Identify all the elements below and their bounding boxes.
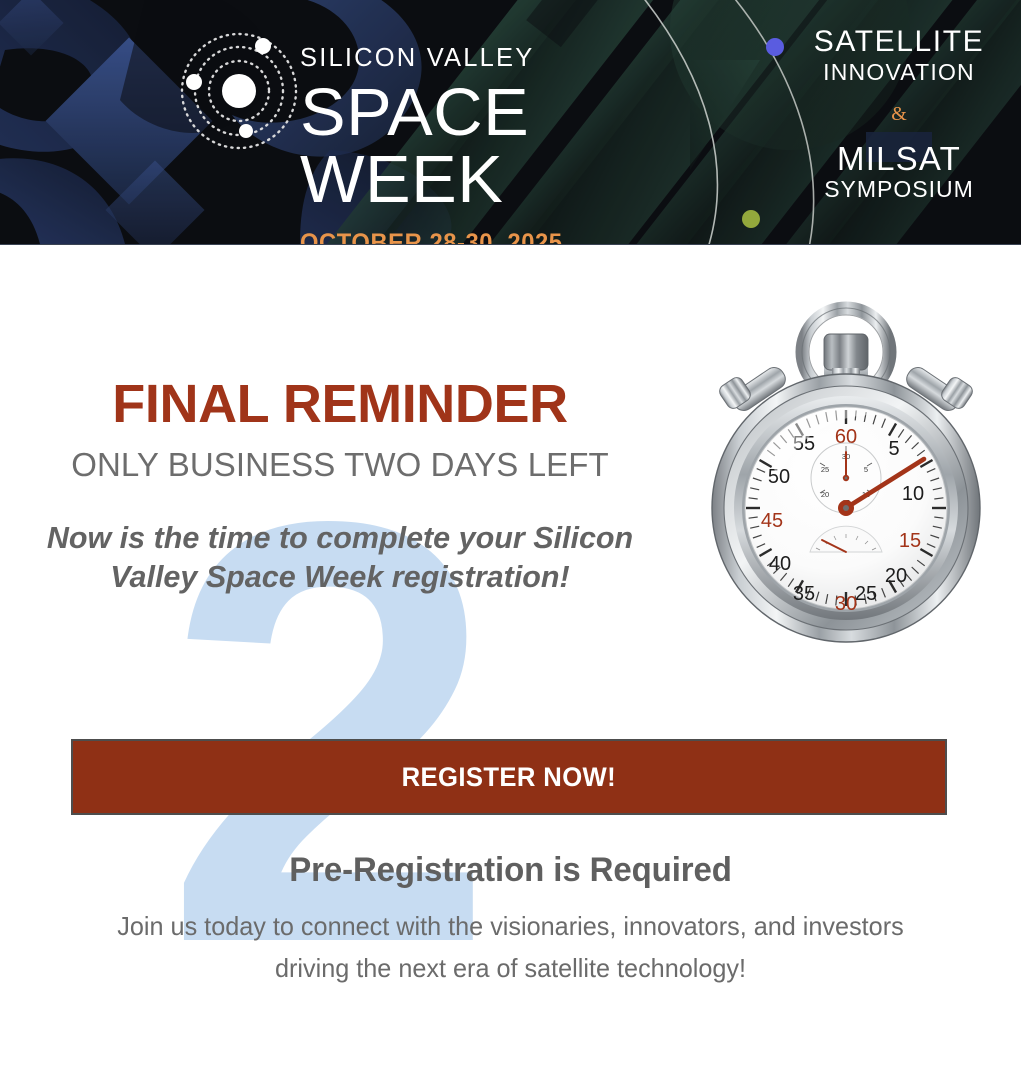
footer-copy: Join us today to connect with the vision…: [15, 905, 1005, 989]
main-content: 2 FINAL REMINDER ONLY BUSINESS TWO DAYS …: [0, 245, 1021, 1025]
lede-paragraph: Now is the time to complete your Silicon…: [0, 519, 680, 597]
page-subtitle: ONLY BUSINESS TWO DAYS LEFT: [0, 448, 680, 481]
footer-group: Pre-Registration is Required Join us tod…: [0, 853, 1021, 989]
email-newsletter-page: SILICON VALLEY SPACE WEEK OCTOBER 28-30,…: [0, 0, 1021, 1024]
svg-text:25: 25: [821, 465, 829, 474]
svg-text:5: 5: [864, 465, 868, 474]
svg-text:10: 10: [902, 483, 924, 505]
svg-text:20: 20: [885, 565, 907, 587]
svg-text:40: 40: [769, 553, 791, 575]
page-title: FINAL REMINDER: [0, 377, 680, 431]
logo-eyebrow: SILICON VALLEY: [300, 22, 700, 72]
svg-text:35: 35: [793, 583, 815, 605]
brand-innovation: INNOVATION: [799, 60, 999, 85]
space-week-logo: SILICON VALLEY SPACE WEEK OCTOBER 28-30,…: [178, 22, 698, 187]
register-now-button[interactable]: REGISTER NOW!: [71, 739, 947, 815]
stopwatch-icon: 60 5 10 15 20 25 30 35 40 45 50 55: [706, 300, 986, 650]
prereg-heading: Pre-Registration is Required: [15, 853, 1005, 887]
brand-symposium: SYMPOSIUM: [799, 177, 999, 202]
svg-text:45: 45: [761, 510, 783, 532]
footer-copy-line1: Join us today to connect with the vision…: [117, 911, 903, 941]
brand-ampersand: &: [799, 103, 999, 126]
co-event-brand: SATELLITE INNOVATION & MILSAT SYMPOSIUM: [799, 26, 999, 203]
brand-satellite: SATELLITE: [799, 26, 999, 58]
headline-group: FINAL REMINDER ONLY BUSINESS TWO DAYS LE…: [0, 377, 680, 597]
svg-text:25: 25: [855, 583, 877, 605]
svg-text:15: 15: [899, 530, 921, 552]
svg-text:20: 20: [821, 490, 829, 499]
footer-copy-line2: driving the next era of satellite techno…: [275, 953, 746, 983]
register-now-label: REGISTER NOW!: [402, 762, 616, 793]
svg-text:5: 5: [888, 438, 899, 460]
logo-title: SPACE WEEK: [300, 79, 708, 213]
event-banner: SILICON VALLEY SPACE WEEK OCTOBER 28-30,…: [0, 0, 1021, 245]
orbit-satellite-logo-icon: [178, 30, 300, 152]
event-date: OCTOBER 28-30, 2025: [300, 229, 680, 246]
svg-text:30: 30: [835, 593, 857, 615]
brand-milsat: MILSAT: [799, 142, 999, 177]
